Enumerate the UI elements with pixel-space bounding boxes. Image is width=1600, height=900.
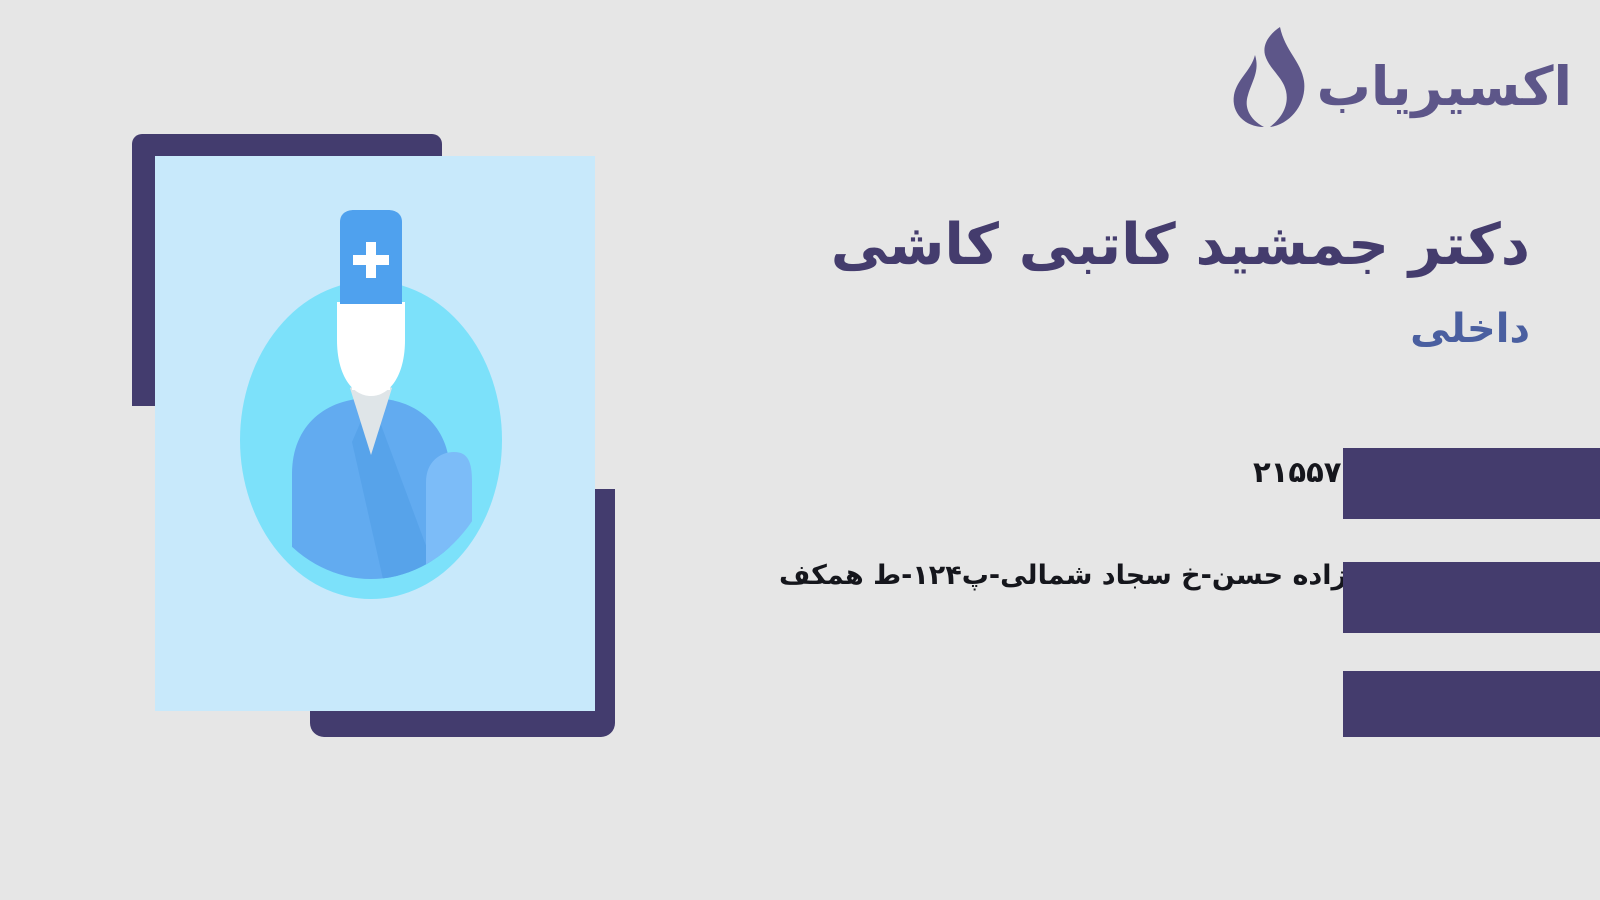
doctor-info-panel: دکتر جمشید کاتبی کاشی داخلی ۲۱۵۵۷۰۸۸۷۰ خ… <box>700 210 1530 355</box>
doctor-avatar-icon <box>240 210 520 610</box>
doctor-profile-card: اکسیریاب <box>0 0 1600 900</box>
doctor-name: دکتر جمشید کاتبی کاشی <box>700 210 1530 281</box>
decorative-bar-1 <box>1343 448 1600 519</box>
brand-wordmark: اکسیریاب <box>1317 60 1572 114</box>
decorative-bar-2 <box>1343 562 1600 633</box>
decorative-bar-3 <box>1343 671 1600 737</box>
flame-droplet-icon <box>1225 25 1309 129</box>
doctor-illustration <box>0 0 660 790</box>
doctor-specialty: داخلی <box>700 303 1530 355</box>
brand-logo[interactable]: اکسیریاب <box>1225 22 1572 132</box>
doctor-address: خ امامزاده حسن-خ سجاد شمالی-پ۱۲۴-ط همکف <box>779 560 1430 591</box>
